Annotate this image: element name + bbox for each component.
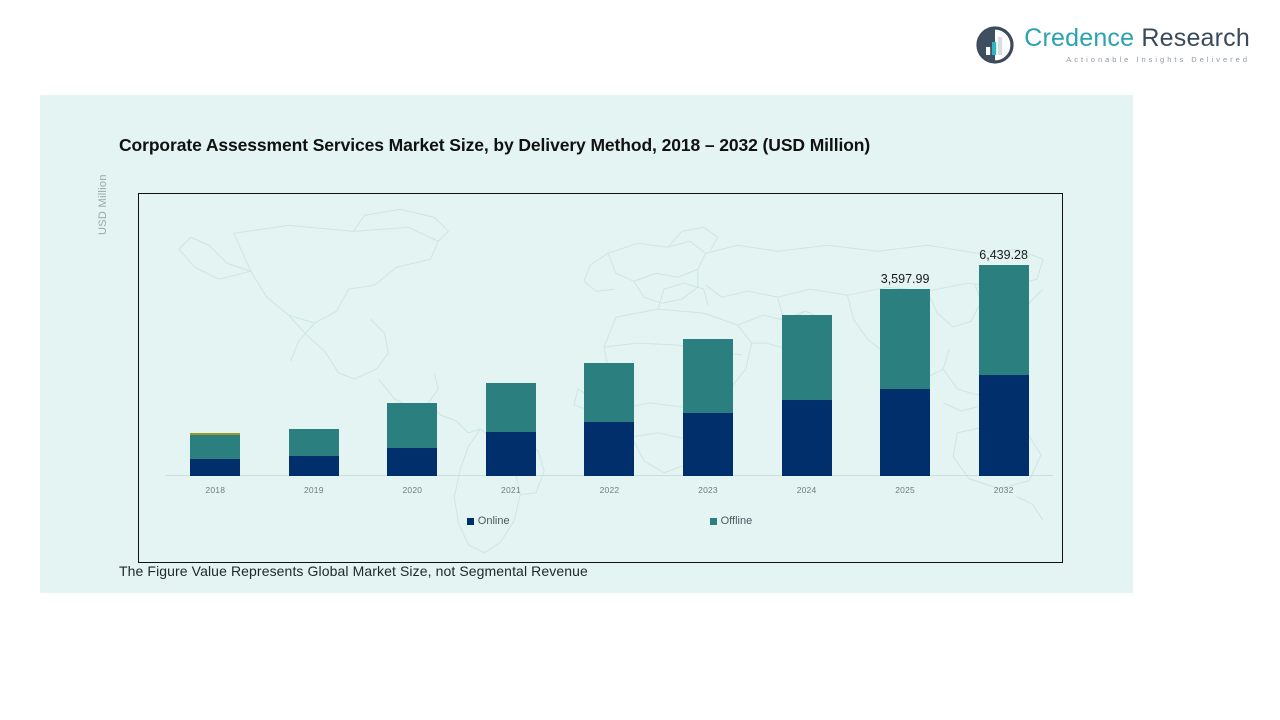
bar-group-2024[interactable]	[781, 193, 833, 476]
x-axis-labels: 2018 2019 2020 2021 2022 2023 2024 2025 …	[166, 485, 1053, 495]
bar-group-2023[interactable]	[682, 193, 734, 476]
brand-text-block: Credence Research Actionable Insights De…	[1024, 26, 1250, 64]
bar-group-2018[interactable]	[189, 193, 241, 476]
legend-label-offline: Offline	[721, 515, 753, 527]
bar-series-container: 3,597.99 6,439.28	[166, 193, 1053, 476]
bar-segment-online-2032[interactable]	[979, 375, 1029, 476]
bar-segment-offline-2032[interactable]	[979, 265, 1029, 375]
chart-title: Corporate Assessment Services Market Siz…	[119, 135, 870, 156]
bar-segment-online-2020[interactable]	[387, 448, 437, 476]
brand-logo: Credence Research Actionable Insights De…	[975, 22, 1250, 68]
bar-segment-offline-2022[interactable]	[584, 363, 634, 422]
bar-segment-online-2025[interactable]	[880, 389, 930, 476]
bar-group-2032[interactable]: 6,439.28	[978, 193, 1030, 476]
x-axis-label-2020: 2020	[386, 485, 438, 495]
legend-swatch-online	[467, 518, 474, 525]
bar-chart-circle-icon	[975, 25, 1015, 65]
bar-value-label-2025: 3,597.99	[881, 272, 930, 286]
bar-value-label-2032: 6,439.28	[979, 248, 1028, 262]
bar-segment-online-2021[interactable]	[486, 432, 536, 476]
bar-segment-offline-2020[interactable]	[387, 403, 437, 448]
bar-segment-online-2024[interactable]	[782, 400, 832, 476]
bar-segment-online-2019[interactable]	[289, 456, 339, 476]
bar-segment-offline-2019[interactable]	[289, 429, 339, 456]
brand-name: Credence Research	[1024, 26, 1250, 51]
legend-swatch-offline	[710, 518, 717, 525]
x-axis-label-2021: 2021	[485, 485, 537, 495]
x-axis-label-2032: 2032	[978, 485, 1030, 495]
chart-legend: Online Offline	[166, 515, 1053, 527]
plot-inner: 3,597.99 6,439.28 2018 2019 2020 2021 20…	[138, 193, 1063, 563]
brand-name-second: Research	[1141, 24, 1250, 52]
bar-group-2021[interactable]	[485, 193, 537, 476]
x-axis-label-2018: 2018	[189, 485, 241, 495]
legend-item-online[interactable]: Online	[467, 515, 510, 527]
bar-group-2022[interactable]	[583, 193, 635, 476]
x-axis-label-2022: 2022	[583, 485, 635, 495]
bar-segment-offline-2023[interactable]	[683, 339, 733, 413]
legend-item-offline[interactable]: Offline	[710, 515, 753, 527]
brand-name-first: Credence	[1024, 24, 1134, 52]
bar-group-2019[interactable]	[288, 193, 340, 476]
bar-group-2020[interactable]	[386, 193, 438, 476]
bar-segment-offline-2018[interactable]	[190, 435, 240, 459]
bar-segment-online-2018[interactable]	[190, 459, 240, 476]
bar-group-2025[interactable]: 3,597.99	[879, 193, 931, 476]
x-axis-label-2023: 2023	[682, 485, 734, 495]
x-axis-label-2025: 2025	[879, 485, 931, 495]
chart-panel: Corporate Assessment Services Market Siz…	[40, 95, 1133, 593]
x-axis-label-2019: 2019	[288, 485, 340, 495]
chart-footnote: The Figure Value Represents Global Marke…	[119, 563, 588, 579]
x-axis-label-2024: 2024	[781, 485, 833, 495]
bar-segment-offline-2024[interactable]	[782, 315, 832, 400]
bar-segment-offline-2021[interactable]	[486, 383, 536, 432]
legend-label-online: Online	[478, 515, 510, 527]
bar-segment-offline-2025[interactable]	[880, 289, 930, 389]
bar-segment-online-2022[interactable]	[584, 422, 634, 476]
brand-tagline: Actionable Insights Delivered	[1024, 56, 1250, 64]
y-axis-title: USD Million	[97, 174, 109, 235]
bar-segment-online-2023[interactable]	[683, 413, 733, 476]
